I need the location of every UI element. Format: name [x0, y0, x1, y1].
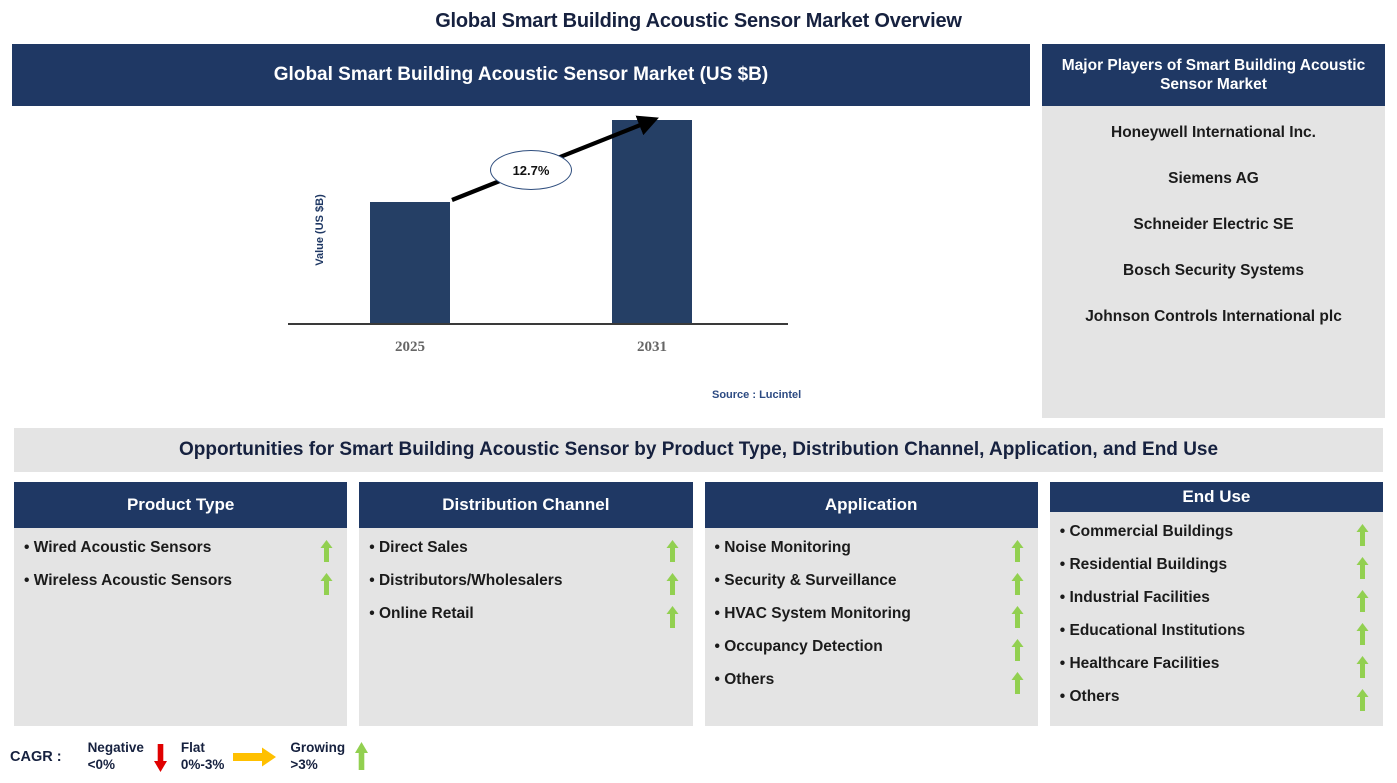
arrow-up-green-icon: [1356, 590, 1369, 612]
legend-growing-range: >3%: [290, 757, 345, 774]
arrow-up-green-icon: [1356, 557, 1369, 579]
list-item: Siemens AG: [1054, 170, 1373, 189]
list-item-label: • Industrial Facilities: [1060, 589, 1210, 608]
list-item: • Direct Sales: [367, 538, 684, 571]
category-column-product-type: Product Type • Wired Acoustic Sensors • …: [14, 482, 347, 726]
arrow-up-green-icon: [1011, 672, 1024, 694]
opportunity-columns: Product Type • Wired Acoustic Sensors • …: [14, 482, 1383, 726]
list-item-label: • Others: [1060, 688, 1120, 707]
list-item-label: • Direct Sales: [369, 539, 467, 558]
list-item-label: • Wired Acoustic Sensors: [24, 539, 211, 558]
legend-negative-range: <0%: [88, 757, 144, 774]
list-item: • Residential Buildings: [1058, 555, 1375, 588]
chart-panel-title: Global Smart Building Acoustic Sensor Ma…: [12, 44, 1030, 106]
list-item-label: • Healthcare Facilities: [1060, 655, 1220, 674]
arrow-right-yellow-icon: [233, 746, 277, 768]
category-item-list: • Noise Monitoring • Security & Surveill…: [705, 528, 1038, 726]
list-item: • Healthcare Facilities: [1058, 654, 1375, 687]
list-item-label: • Educational Institutions: [1060, 622, 1245, 641]
list-item: Bosch Security Systems: [1054, 262, 1373, 281]
category-item-list: • Direct Sales • Distributors/Wholesaler…: [359, 528, 692, 726]
top-row: Global Smart Building Acoustic Sensor Ma…: [12, 44, 1385, 418]
market-chart-panel: Global Smart Building Acoustic Sensor Ma…: [12, 44, 1030, 418]
legend-growing-name: Growing: [290, 740, 345, 757]
chart-y-axis-label: Value (US $B): [314, 170, 326, 290]
list-item-label: • Wireless Acoustic Sensors: [24, 572, 232, 591]
list-item: • Others: [713, 670, 1030, 703]
list-item: • Others: [1058, 687, 1375, 720]
list-item-label: • Security & Surveillance: [715, 572, 897, 591]
legend-entry-flat: Flat 0%-3%: [181, 740, 287, 774]
major-players-title: Major Players of Smart Building Acoustic…: [1042, 44, 1385, 106]
arrow-up-green-icon: [1356, 524, 1369, 546]
cagr-legend: CAGR : Negative <0% Flat 0%-3% Growing >…: [10, 734, 382, 780]
category-item-list: • Wired Acoustic Sensors • Wireless Acou…: [14, 528, 347, 726]
category-column-distribution-channel: Distribution Channel • Direct Sales • Di…: [359, 482, 692, 726]
opportunities-banner: Opportunities for Smart Building Acousti…: [14, 428, 1383, 472]
list-item-label: • Residential Buildings: [1060, 556, 1227, 575]
arrow-up-green-icon: [666, 573, 679, 595]
chart-source-note: Source : Lucintel: [712, 389, 801, 401]
legend-negative-text: Negative <0%: [88, 740, 144, 774]
category-column-application: Application • Noise Monitoring • Securit…: [705, 482, 1038, 726]
list-item-label: • Online Retail: [369, 605, 473, 624]
list-item: Schneider Electric SE: [1054, 216, 1373, 235]
arrow-up-green-icon: [666, 540, 679, 562]
arrow-up-green-icon: [1011, 540, 1024, 562]
list-item: • Wireless Acoustic Sensors: [22, 571, 339, 604]
legend-entry-growing: Growing >3%: [290, 740, 378, 774]
legend-growing-text: Growing >3%: [290, 740, 345, 774]
list-item: • Occupancy Detection: [713, 637, 1030, 670]
arrow-up-green-icon: [1011, 639, 1024, 661]
list-item-label: • Distributors/Wholesalers: [369, 572, 562, 591]
legend-flat-name: Flat: [181, 740, 225, 757]
list-item-label: • Occupancy Detection: [715, 638, 883, 657]
major-players-panel: Major Players of Smart Building Acoustic…: [1042, 44, 1385, 418]
list-item: • HVAC System Monitoring: [713, 604, 1030, 637]
arrow-up-green-icon: [320, 573, 333, 595]
legend-negative-name: Negative: [88, 740, 144, 757]
list-item-label: • HVAC System Monitoring: [715, 605, 911, 624]
chart-bar-2025: [370, 202, 450, 324]
arrow-up-green-icon: [1356, 656, 1369, 678]
cagr-legend-title: CAGR :: [10, 749, 62, 765]
arrow-up-green-icon: [1011, 573, 1024, 595]
arrow-down-red-icon: [153, 742, 168, 772]
chart-cagr-badge: 12.7%: [490, 150, 572, 190]
list-item: • Online Retail: [367, 604, 684, 637]
arrow-up-green-icon: [666, 606, 679, 628]
list-item-label: • Commercial Buildings: [1060, 523, 1233, 542]
chart-x-tick-2031: 2031: [612, 339, 692, 356]
category-header: Application: [705, 482, 1038, 528]
category-header: End Use: [1050, 482, 1383, 512]
legend-entry-negative: Negative <0%: [88, 740, 177, 774]
list-item: Honeywell International Inc.: [1054, 124, 1373, 143]
legend-flat-text: Flat 0%-3%: [181, 740, 225, 774]
page-title: Global Smart Building Acoustic Sensor Ma…: [0, 10, 1397, 33]
chart-plot-area: Value (US $B) 2025 2031 12.7% Source : L…: [12, 106, 1030, 418]
list-item: • Educational Institutions: [1058, 621, 1375, 654]
list-item: • Noise Monitoring: [713, 538, 1030, 571]
arrow-up-green-icon: [354, 742, 369, 772]
list-item: • Wired Acoustic Sensors: [22, 538, 339, 571]
list-item: • Distributors/Wholesalers: [367, 571, 684, 604]
list-item: Johnson Controls International plc: [1054, 308, 1373, 327]
list-item: • Security & Surveillance: [713, 571, 1030, 604]
list-item: • Industrial Facilities: [1058, 588, 1375, 621]
chart-x-axis-line: [288, 323, 788, 325]
list-item-label: • Noise Monitoring: [715, 539, 851, 558]
arrow-up-green-icon: [1011, 606, 1024, 628]
arrow-up-green-icon: [320, 540, 333, 562]
legend-flat-range: 0%-3%: [181, 757, 225, 774]
chart-x-tick-2025: 2025: [370, 339, 450, 356]
list-item-label: • Others: [715, 671, 775, 690]
arrow-up-green-icon: [1356, 623, 1369, 645]
category-header: Distribution Channel: [359, 482, 692, 528]
category-header: Product Type: [14, 482, 347, 528]
category-column-end-use: End Use • Commercial Buildings • Residen…: [1050, 482, 1383, 726]
arrow-up-green-icon: [1356, 689, 1369, 711]
category-item-list: • Commercial Buildings • Residential Bui…: [1050, 512, 1383, 726]
chart-bar-2031: [612, 120, 692, 324]
list-item: • Commercial Buildings: [1058, 522, 1375, 555]
major-players-list: Honeywell International Inc. Siemens AG …: [1042, 106, 1385, 364]
